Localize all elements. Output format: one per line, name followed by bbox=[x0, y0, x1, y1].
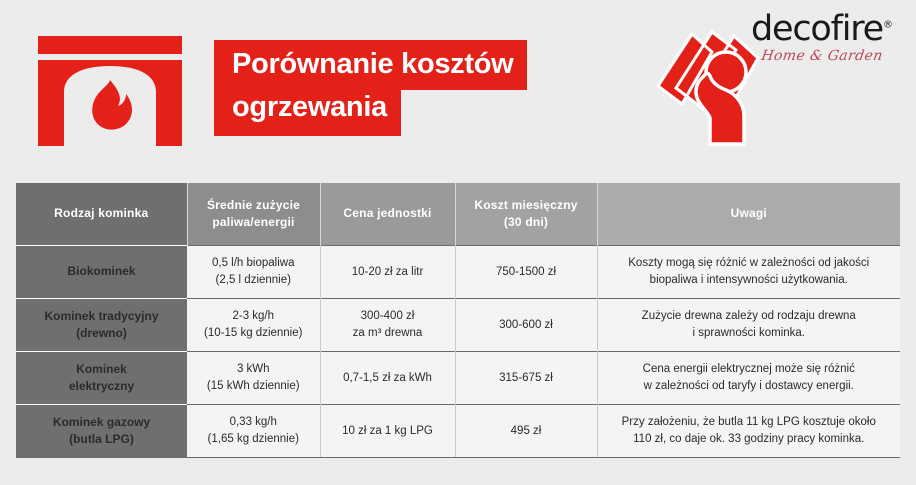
brand-logo: decofire® Home & Garden bbox=[740, 12, 904, 64]
fireplace-icon bbox=[36, 36, 184, 146]
cell-notes: Cena energii elektrycznej może się różni… bbox=[597, 352, 900, 405]
table-row: Biokominek 0,5 l/h biopaliwa (2,5 l dzie… bbox=[16, 246, 900, 299]
cell-type: Biokominek bbox=[16, 246, 187, 299]
column-header-consumption: Średnie zużycie paliwa/energii bbox=[187, 183, 320, 246]
table-row: Kominek tradycyjny (drewno) 2-3 kg/h (10… bbox=[16, 299, 900, 352]
cell-unit-price: 0,7-1,5 zł za kWh bbox=[320, 352, 455, 405]
heating-cost-comparison-table: Rodzaj kominka Średnie zużycie paliwa/en… bbox=[16, 183, 900, 458]
table-header: Rodzaj kominka Średnie zużycie paliwa/en… bbox=[16, 183, 900, 246]
cell-type: Kominek tradycyjny (drewno) bbox=[16, 299, 187, 352]
table-body: Biokominek 0,5 l/h biopaliwa (2,5 l dzie… bbox=[16, 246, 900, 458]
page-header-banner: Porównanie kosztów ogrzewania zł decofir… bbox=[0, 0, 916, 170]
cell-unit-price: 300-400 zł za m³ drewna bbox=[320, 299, 455, 352]
cell-notes: Zużycie drewna zależy od rodzaju drewna … bbox=[597, 299, 900, 352]
cell-monthly-cost: 750-1500 zł bbox=[455, 246, 597, 299]
cell-monthly-cost: 315-675 zł bbox=[455, 352, 597, 405]
cell-notes: Przy założeniu, że butla 11 kg LPG koszt… bbox=[597, 405, 900, 458]
table-header-row: Rodzaj kominka Średnie zużycie paliwa/en… bbox=[16, 183, 900, 246]
page-title-line-2: ogrzewania bbox=[214, 89, 401, 136]
page-title: Porównanie kosztów ogrzewania bbox=[214, 40, 634, 136]
table-row: Kominek gazowy (butla LPG) 0,33 kg/h (1,… bbox=[16, 405, 900, 458]
cell-monthly-cost: 300-600 zł bbox=[455, 299, 597, 352]
column-header-type: Rodzaj kominka bbox=[16, 183, 187, 246]
table-row: Kominek elektryczny 3 kWh (15 kWh dzienn… bbox=[16, 352, 900, 405]
cell-unit-price: 10 zł za 1 kg LPG bbox=[320, 405, 455, 458]
cell-consumption: 3 kWh (15 kWh dziennie) bbox=[187, 352, 320, 405]
page-title-line-1: Porównanie kosztów bbox=[214, 40, 527, 90]
brand-tagline: Home & Garden bbox=[739, 48, 906, 64]
cell-unit-price: 10-20 zł za litr bbox=[320, 246, 455, 299]
cell-type: Kominek gazowy (butla LPG) bbox=[16, 405, 187, 458]
cell-consumption: 0,33 kg/h (1,65 kg dziennie) bbox=[187, 405, 320, 458]
cell-type: Kominek elektryczny bbox=[16, 352, 187, 405]
cell-monthly-cost: 495 zł bbox=[455, 405, 597, 458]
column-header-monthly-cost: Koszt miesięczny (30 dni) bbox=[455, 183, 597, 246]
column-header-unit-price: Cena jednostki bbox=[320, 183, 455, 246]
cell-consumption: 2-3 kg/h (10-15 kg dziennie) bbox=[187, 299, 320, 352]
column-header-notes: Uwagi bbox=[597, 183, 900, 246]
cell-notes: Koszty mogą się różnić w zależności od j… bbox=[597, 246, 900, 299]
brand-wordmark-text: decofire bbox=[751, 9, 883, 49]
registered-trademark-icon: ® bbox=[883, 19, 893, 30]
cell-consumption: 0,5 l/h biopaliwa (2,5 l dziennie) bbox=[187, 246, 320, 299]
brand-wordmark: decofire® bbox=[740, 12, 904, 47]
